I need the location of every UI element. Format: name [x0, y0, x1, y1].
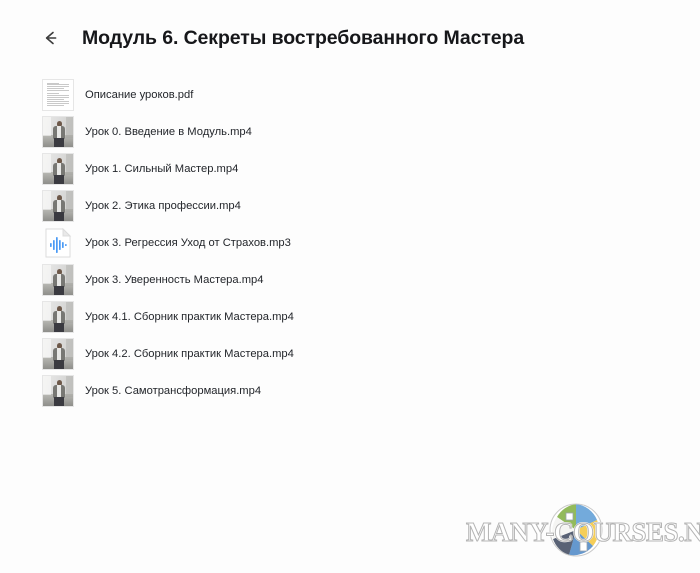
globe-logo-icon — [547, 501, 605, 559]
file-row[interactable]: Урок 4.1. Сборник практик Мастера.mp4 — [42, 298, 700, 335]
file-row[interactable]: Урок 2. Этика профессии.mp4 — [42, 187, 700, 224]
video-thumbnail — [42, 153, 74, 185]
file-name: Урок 4.1. Сборник практик Мастера.mp4 — [85, 310, 294, 324]
document-thumbnail — [42, 79, 74, 111]
file-row[interactable]: Урок 1. Сильный Мастер.mp4 — [42, 150, 700, 187]
file-name: Урок 5. Самотрансформация.mp4 — [85, 384, 261, 398]
file-name: Урок 0. Введение в Модуль.mp4 — [85, 125, 252, 139]
file-row[interactable]: Урок 4.2. Сборник практик Мастера.mp4 — [42, 335, 700, 372]
arrow-left-icon — [42, 29, 60, 47]
file-name: Урок 1. Сильный Мастер.mp4 — [85, 162, 238, 176]
file-name: Урок 3. Регрессия Уход от Страхов.mp3 — [85, 236, 291, 250]
page-title: Модуль 6. Секреты востребованного Мастер… — [82, 27, 524, 50]
file-row[interactable]: Урок 5. Самотрансформация.mp4 — [42, 372, 700, 409]
watermark: MANY-COURSES.NET — [466, 499, 686, 563]
video-thumbnail — [42, 116, 74, 148]
file-row[interactable]: Урок 0. Введение в Модуль.mp4 — [42, 113, 700, 150]
file-name: Урок 3. Уверенность Мастера.mp4 — [85, 273, 263, 287]
file-row[interactable]: Описание уроков.pdf — [42, 76, 700, 113]
page-header: Модуль 6. Секреты востребованного Мастер… — [0, 0, 700, 76]
file-list: Описание уроков.pdfУрок 0. Введение в Мо… — [0, 76, 700, 409]
video-thumbnail — [42, 375, 74, 407]
video-thumbnail — [42, 190, 74, 222]
file-name: Урок 4.2. Сборник практик Мастера.mp4 — [85, 347, 294, 361]
file-name: Описание уроков.pdf — [85, 88, 193, 102]
audio-file-icon — [42, 227, 74, 259]
watermark-text: MANY-COURSES.NET — [466, 517, 686, 548]
file-row[interactable]: Урок 3. Регрессия Уход от Страхов.mp3 — [42, 224, 700, 261]
file-name: Урок 2. Этика профессии.mp4 — [85, 199, 241, 213]
video-thumbnail — [42, 264, 74, 296]
back-button[interactable] — [36, 23, 66, 53]
file-row[interactable]: Урок 3. Уверенность Мастера.mp4 — [42, 261, 700, 298]
video-thumbnail — [42, 301, 74, 333]
video-thumbnail — [42, 338, 74, 370]
